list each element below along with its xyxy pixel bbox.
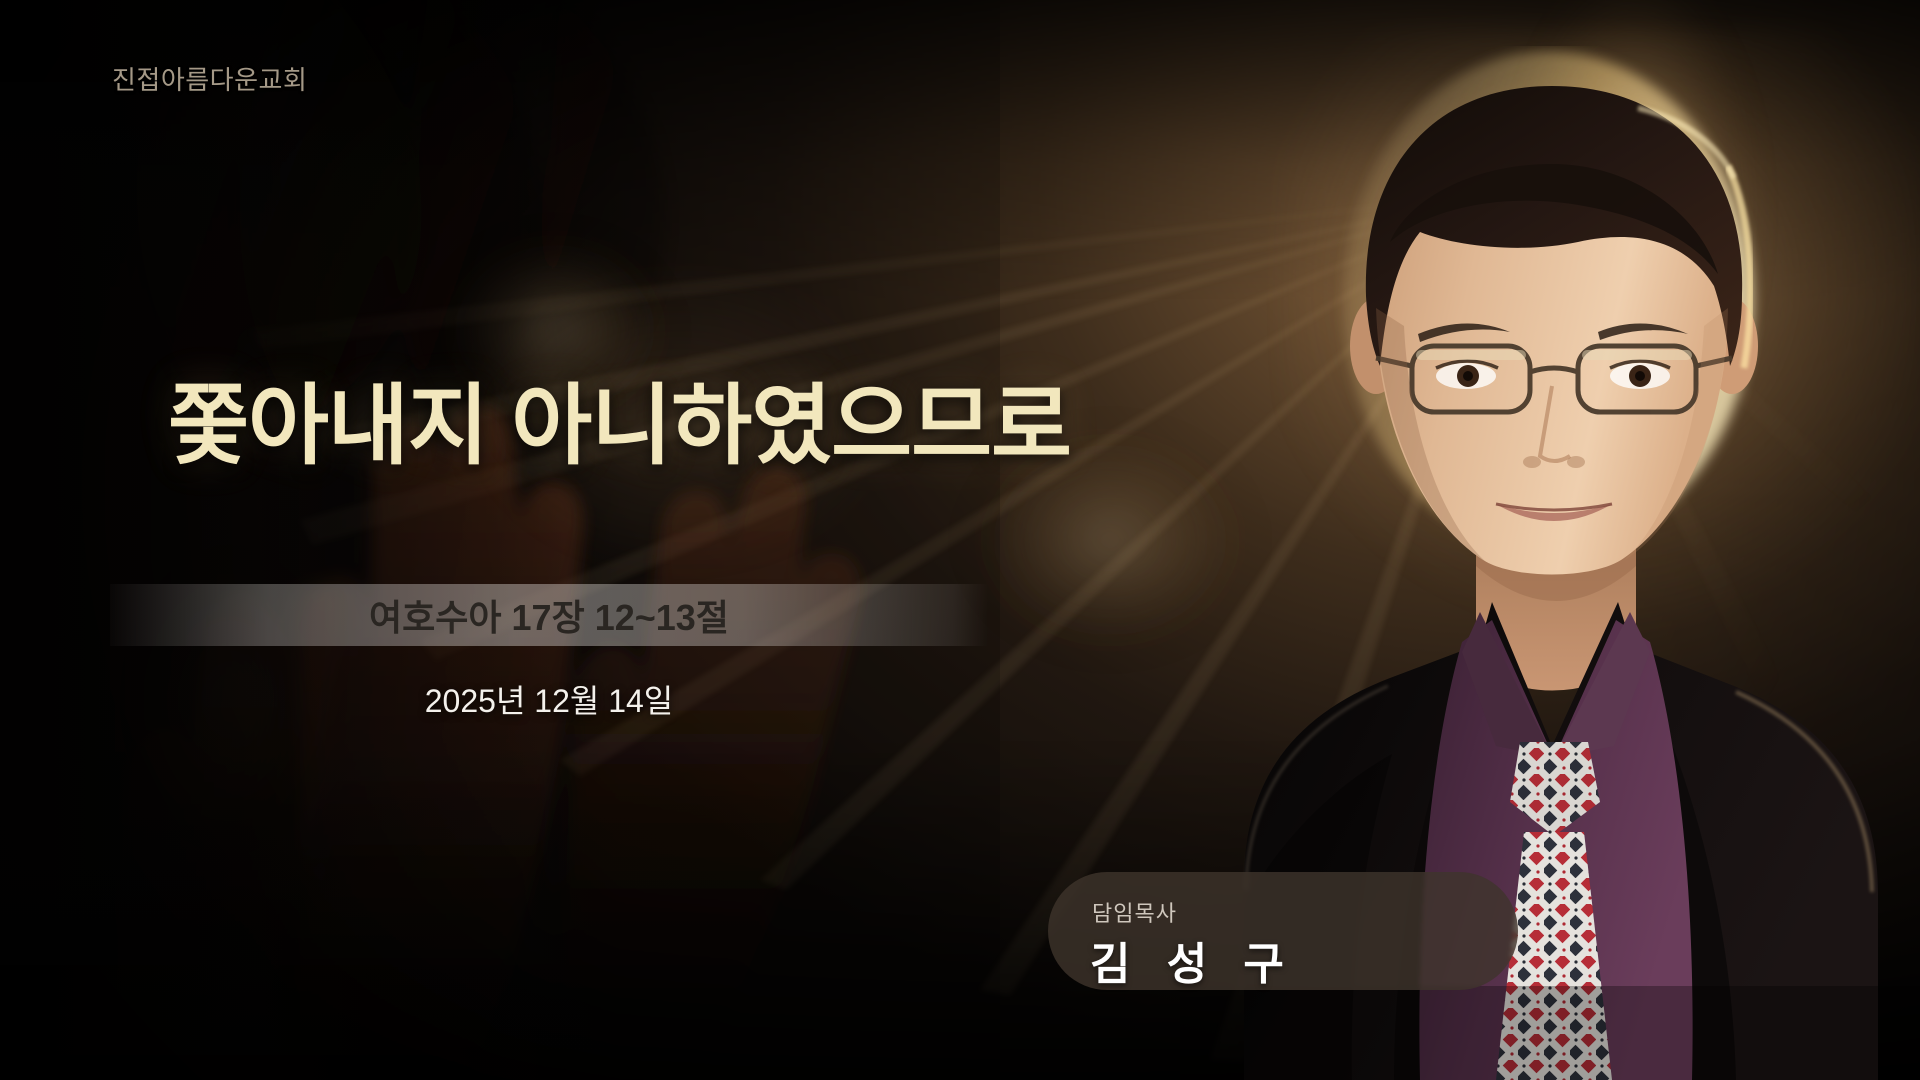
- scripture-reference: 여호수아 17장 12~13절: [110, 584, 988, 646]
- page-title: 쫓아내지 아니하였으므로: [168, 355, 1071, 482]
- speaker-role: 담임목사: [1092, 896, 1177, 928]
- church-name: 진접아름다운교회: [112, 60, 307, 97]
- sermon-date: 2025년 12월 14일: [110, 676, 988, 722]
- speaker-name: 김 성 구: [1090, 928, 1296, 992]
- sermon-title-slide: 진접아름다운교회 쫓아내지 아니하였으므로 여호수아 17장 12~13절 20…: [0, 0, 1920, 1080]
